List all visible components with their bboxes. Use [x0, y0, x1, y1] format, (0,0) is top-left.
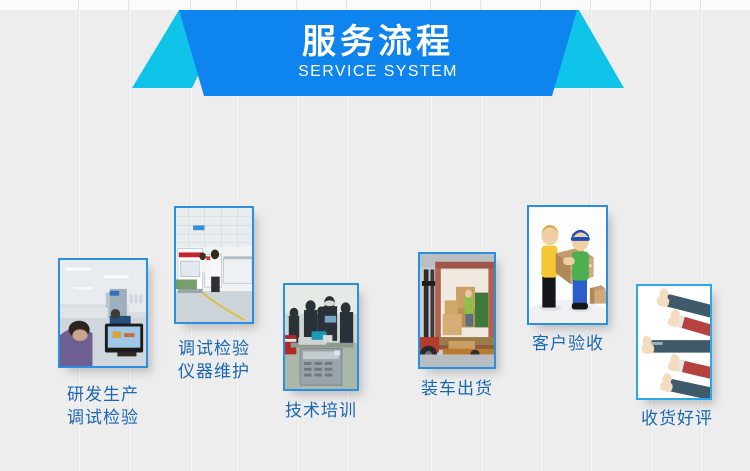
banner: 服务流程 SERVICE SYSTEM — [132, 10, 624, 96]
photo-lab-instruments — [176, 208, 252, 322]
banner-title-en: SERVICE SYSTEM — [298, 63, 458, 81]
top-divider-strip — [0, 0, 750, 10]
illustration-thumbs-up-reviews — [638, 286, 710, 398]
step-caption-5: 客户验收 — [521, 333, 615, 356]
step-photo-frame-1 — [58, 258, 148, 368]
step-caption-4: 装车出货 — [410, 378, 504, 401]
hanging-line — [650, 10, 652, 471]
step-photo-frame-2 — [174, 206, 254, 324]
step-card-4[interactable]: 装车出货 — [418, 252, 496, 369]
step-caption-1: 研发生产 调试检验 — [52, 384, 154, 430]
step-caption-2: 调试检验 仪器维护 — [162, 338, 266, 384]
step-caption-3: 技术培训 — [273, 400, 369, 423]
step-caption-6: 收货好评 — [630, 408, 724, 431]
illustration-delivery-handover — [529, 207, 606, 323]
hanging-line — [700, 10, 702, 471]
step-card-6[interactable]: 收货好评 — [636, 284, 712, 400]
photo-office-workstations — [60, 260, 146, 366]
service-process-infographic: 服务流程 SERVICE SYSTEM — [0, 0, 750, 471]
step-card-1[interactable]: 研发生产 调试检验 — [58, 258, 148, 368]
step-photo-frame-4 — [418, 252, 496, 369]
banner-title-cn: 服务流程 — [302, 25, 454, 61]
step-photo-frame-6 — [636, 284, 712, 400]
step-photo-frame-3 — [283, 283, 359, 391]
photo-loading-truck — [420, 254, 494, 367]
photo-technical-training — [285, 285, 357, 389]
step-card-2[interactable]: 调试检验 仪器维护 — [174, 206, 254, 324]
step-card-5[interactable]: 客户验收 — [527, 205, 608, 325]
step-photo-frame-5 — [527, 205, 608, 325]
step-card-3[interactable]: 技术培训 — [283, 283, 359, 391]
